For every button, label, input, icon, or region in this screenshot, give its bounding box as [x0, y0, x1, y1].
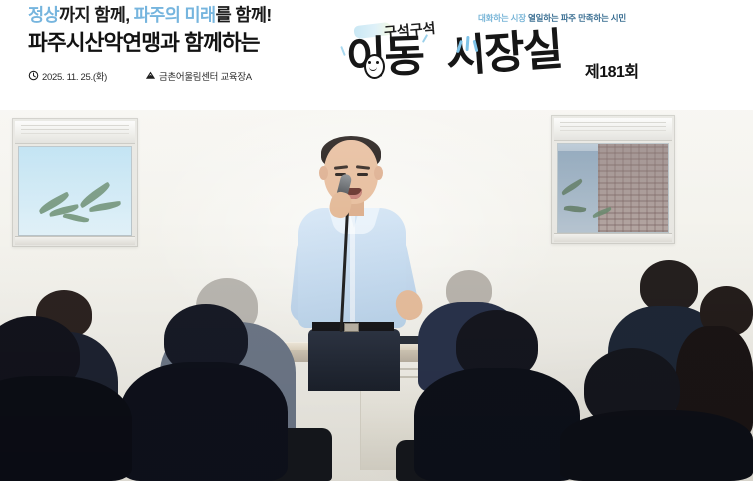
headline-line-2: 파주시산악연맹과 함께하는 — [28, 30, 358, 58]
banner-text-block: 정상까지 함께, 파주의 미래를 함께! 파주시산악연맹과 함께하는 2025.… — [28, 4, 358, 83]
event-venue: 금촌어울림센터 교육장A — [145, 69, 252, 83]
logo-word-sijangsil: 시장실 — [445, 28, 563, 80]
event-date-label: 2025. 11. 25.(화) — [42, 69, 107, 83]
speaker-ear-left — [319, 166, 328, 180]
mountain-icon — [145, 70, 156, 81]
session-number: 제181회 — [585, 58, 639, 82]
sky-view — [19, 147, 131, 235]
slogan-text: 대화하는 시장 열일하는 파주 만족하는 시민 — [478, 12, 626, 24]
logo-main-wordmark: 이동 시장실 — [340, 32, 585, 94]
audience-body-front-left — [120, 362, 288, 481]
speaker-ear-right — [374, 166, 383, 180]
headline-highlight-1: 정상 — [28, 5, 59, 25]
slogan-part-2: 열일하는 파주 만족하는 시민 — [528, 13, 626, 23]
headline-line-1: 정상까지 함께, 파주의 미래를 함께! — [28, 4, 358, 28]
left-window-blind — [15, 121, 135, 144]
speaker-shirt-placket — [350, 216, 355, 324]
headline-highlight-2: 파주의 미래 — [134, 5, 216, 25]
speaker-belt-buckle — [344, 323, 359, 332]
banner-header: 정상까지 함께, 파주의 미래를 함께! 파주시산악연맹과 함께하는 2025.… — [0, 0, 753, 110]
face-eye-left-icon — [368, 61, 371, 64]
event-meta-row: 2025. 11. 25.(화) 금촌어울림센터 교육장A — [28, 69, 358, 83]
left-window-sill — [15, 236, 135, 245]
audience-head-dark-right — [640, 260, 698, 312]
left-window-glass — [18, 146, 132, 236]
audience-body-front-far-left — [0, 376, 132, 481]
right-window-sill — [554, 233, 672, 242]
left-window — [12, 118, 138, 247]
event-date: 2025. 11. 25.(화) — [28, 69, 107, 83]
headline-plain-2: 를 함께! — [216, 5, 272, 25]
event-banner-page: 정상까지 함께, 파주의 미래를 함께! 파주시산악연맹과 함께하는 2025.… — [0, 0, 753, 481]
clock-icon — [28, 70, 39, 81]
face-eye-right-icon — [376, 61, 379, 64]
right-window — [551, 115, 675, 244]
right-window-glass — [557, 143, 669, 233]
event-photograph — [0, 110, 753, 481]
speaker-trousers — [308, 329, 400, 391]
logo-word-idong: 이동 — [345, 35, 423, 82]
speaker-figure — [288, 140, 423, 390]
speaker-eye-right — [357, 173, 368, 176]
brick-wall-view — [598, 144, 668, 232]
slogan-part-1: 대화하는 시장 — [478, 13, 528, 23]
audience-body-front-right — [560, 410, 753, 481]
audience-body-front-center — [414, 368, 580, 481]
right-window-blind — [554, 118, 672, 141]
sparkle-icon-4 — [422, 34, 428, 43]
headline-plain-1: 까지 함께, — [59, 5, 134, 25]
event-venue-label: 금촌어울림센터 교육장A — [159, 69, 252, 83]
